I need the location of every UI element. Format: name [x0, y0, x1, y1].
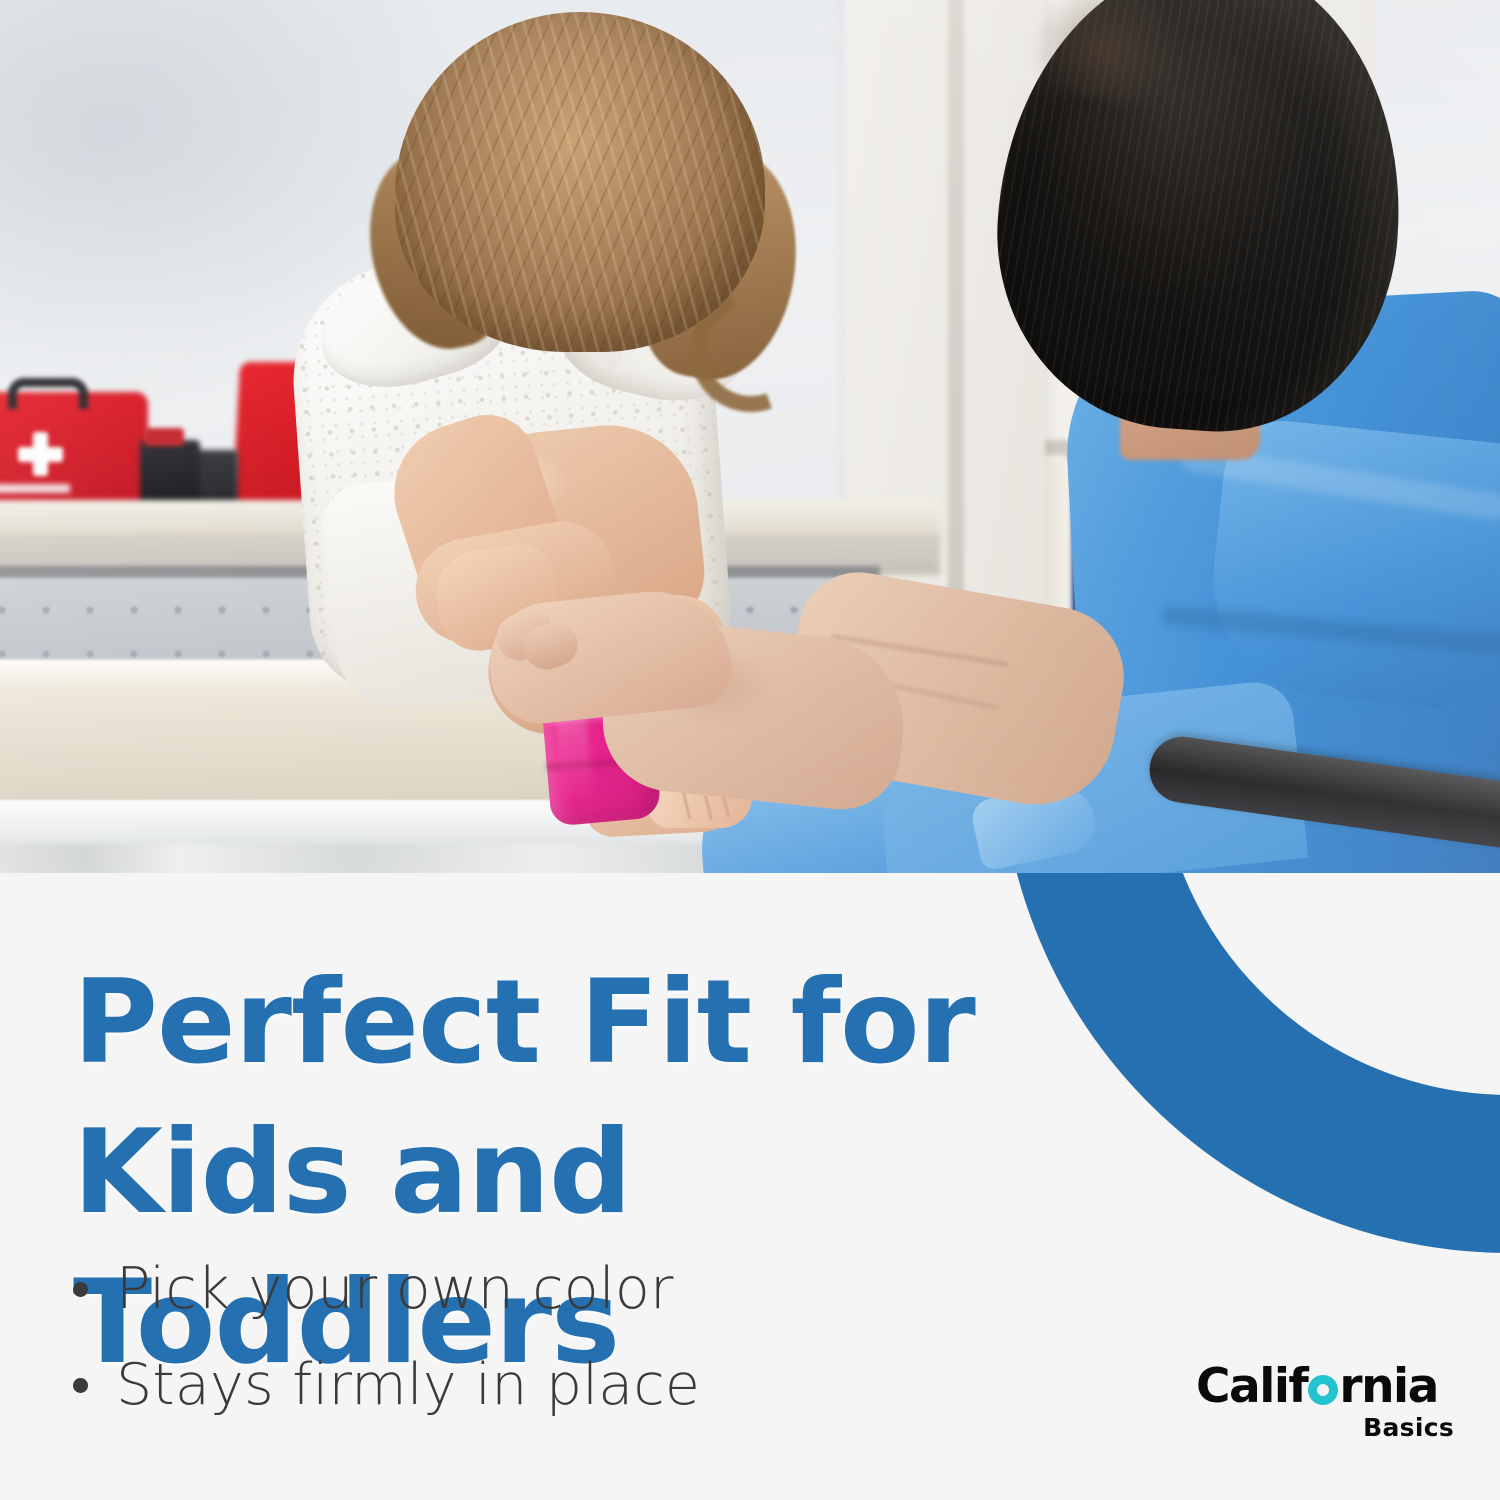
medicine-bottle-cap [144, 428, 184, 446]
brand-logo-wordmark: Calif rnia [1196, 1362, 1464, 1412]
feature-label: Pick your own color [116, 1258, 674, 1320]
feature-list: Pick your own color Stays firmly in plac… [73, 1258, 973, 1450]
medical-cross-icon [18, 447, 63, 462]
brand-logo-part1: Calif [1196, 1362, 1307, 1412]
brand-logo-subtitle: Basics [1196, 1414, 1464, 1441]
bullet-dot-icon [73, 1378, 88, 1393]
product-marketing-poster: Perfect Fit for Kids and Toddlers Pick y… [0, 0, 1500, 1500]
hero-photo [0, 0, 1500, 873]
first-aid-kit-label [0, 484, 70, 493]
cabinet-gap [948, 0, 964, 610]
brand-logo-part2: rnia [1339, 1362, 1437, 1412]
first-aid-kit-handle [8, 378, 88, 409]
brand-logo-o-ring-icon [1308, 1375, 1338, 1405]
feature-item-1: Pick your own color [73, 1258, 973, 1320]
feature-item-2: Stays firmly in place [73, 1354, 973, 1416]
girl-hair-texture [395, 12, 765, 352]
bullet-dot-icon [73, 1282, 88, 1297]
brand-logo: Calif rnia Basics [1196, 1362, 1464, 1441]
feature-label: Stays firmly in place [116, 1354, 700, 1416]
